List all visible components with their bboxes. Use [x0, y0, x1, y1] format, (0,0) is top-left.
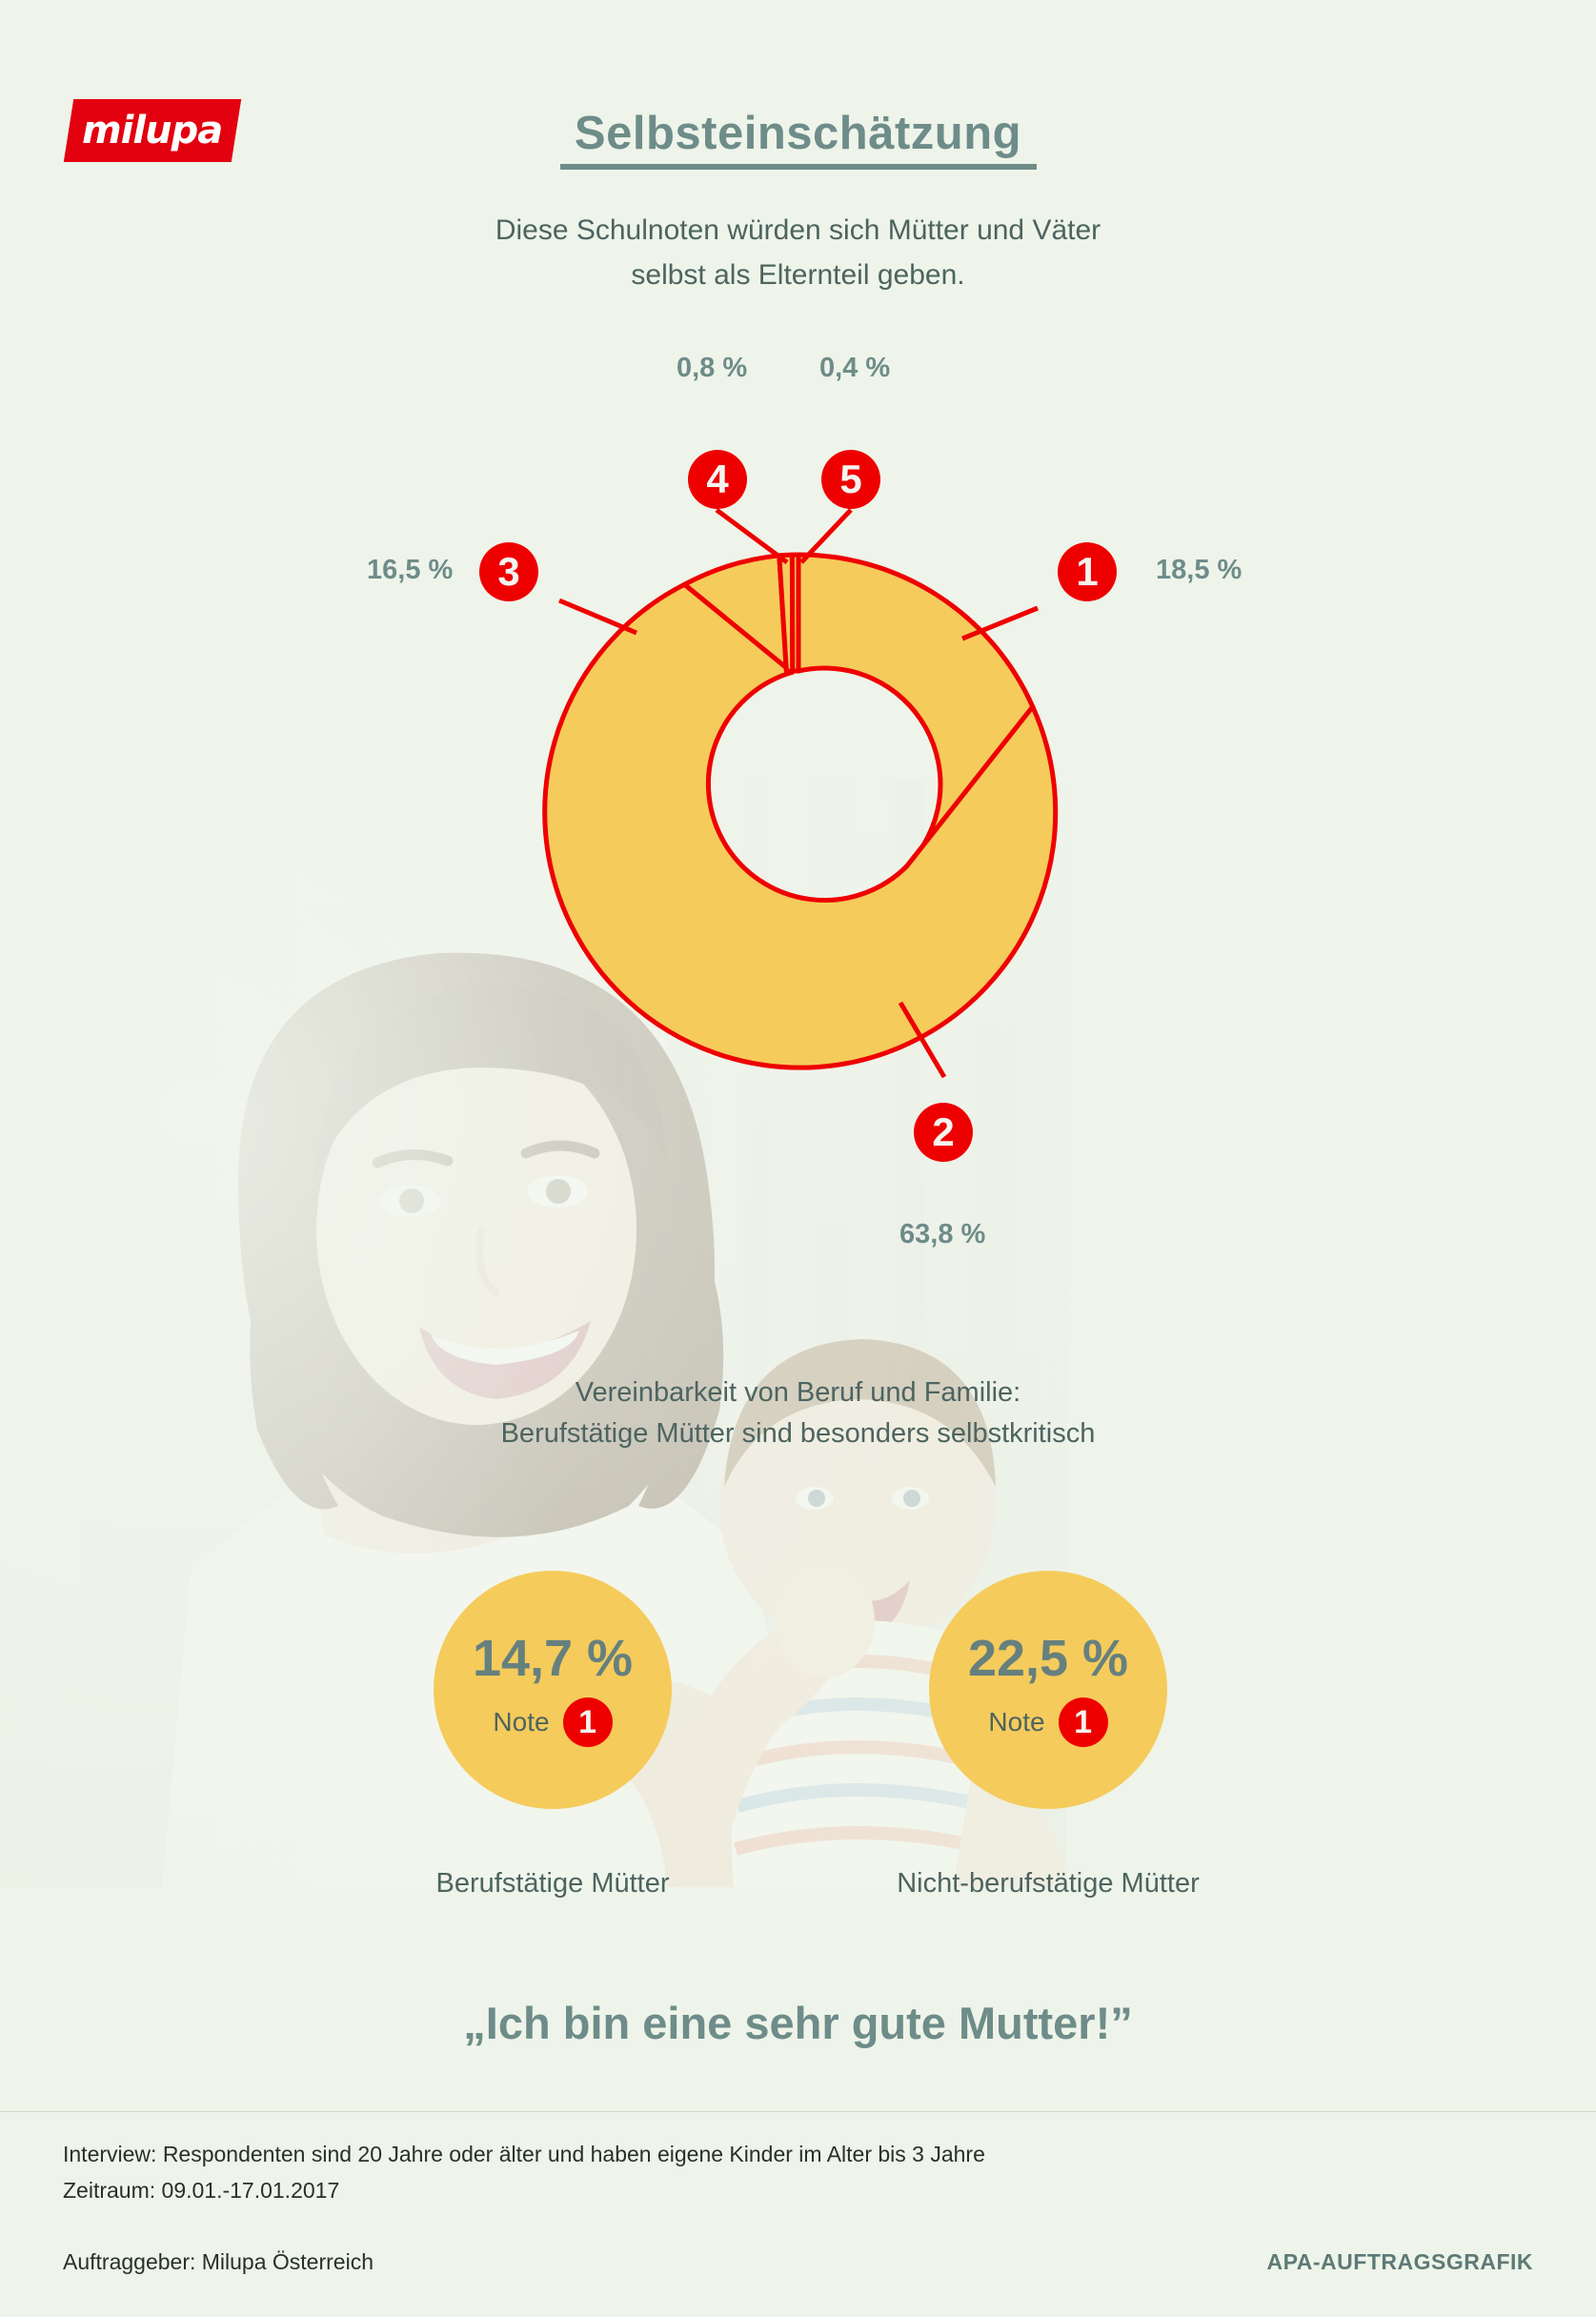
subtitle-line-2: selbst als Elternteil geben. — [0, 253, 1596, 297]
percent-label-1: 18,5 % — [1156, 555, 1242, 586]
stat-value: 14,7 % — [473, 1633, 633, 1684]
footer-agency: APA-AUFTRAGSGRAFIK — [1267, 2249, 1533, 2275]
subtitle-line-1: Diese Schulnoten würden sich Mütter und … — [0, 208, 1596, 253]
middle-caption-line-1: Vereinbarkeit von Beruf und Familie: — [0, 1372, 1596, 1413]
percent-label-5: 0,4 % — [819, 353, 890, 384]
middle-caption-line-2: Berufstätige Mütter sind besonders selbs… — [0, 1413, 1596, 1454]
stat-bubble-working-mothers: 14,7 % Note 1 — [434, 1571, 672, 1809]
percent-label-2: 63,8 % — [899, 1219, 985, 1250]
page-title: Selbsteinschätzung — [0, 107, 1596, 160]
percent-label-3: 16,5 % — [367, 555, 453, 586]
callout-marker-2[interactable]: 2 — [914, 1103, 973, 1162]
callout-marker-4[interactable]: 4 — [688, 450, 747, 509]
percent-label-4: 0,8 % — [677, 353, 747, 384]
leader-line-4 — [717, 510, 787, 562]
stat-caption-working-mothers: Berufstätige Mütter — [314, 1868, 791, 1900]
page-subtitle: Diese Schulnoten würden sich Mütter und … — [0, 208, 1596, 297]
pull-quote: „Ich bin eine sehr gute Mutter!” — [0, 1997, 1596, 2049]
callout-marker-5[interactable]: 5 — [821, 450, 880, 509]
donut-chart: 0,8 % 0,4 % 16,5 % 18,5 % 63,8 % 4 5 3 1… — [0, 362, 1596, 1258]
callout-marker-3[interactable]: 3 — [479, 542, 538, 601]
stat-note-grade-badge: 1 — [1059, 1697, 1108, 1747]
stat-note-row: Note 1 — [988, 1697, 1107, 1747]
callout-marker-1[interactable]: 1 — [1058, 542, 1117, 601]
stat-note-label: Note — [988, 1707, 1044, 1738]
stat-note-grade-badge: 1 — [563, 1697, 613, 1747]
footer-client: Auftraggeber: Milupa Österreich — [63, 2249, 374, 2275]
stat-note-label: Note — [493, 1707, 549, 1738]
footer-divider — [0, 2111, 1596, 2112]
title-underline — [560, 164, 1037, 170]
footer-method-line: Interview: Respondenten sind 20 Jahre od… — [63, 2142, 985, 2167]
stat-bubble-non-working-mothers: 22,5 % Note 1 — [929, 1571, 1167, 1809]
donut-slice-5 — [792, 555, 798, 671]
footer-period-line: Zeitraum: 09.01.-17.01.2017 — [63, 2178, 339, 2204]
stat-caption-non-working-mothers: Nicht-berufstätige Mütter — [810, 1868, 1286, 1900]
middle-caption: Vereinbarkeit von Beruf und Familie: Ber… — [0, 1372, 1596, 1454]
leader-line-3 — [559, 600, 636, 633]
stat-note-row: Note 1 — [493, 1697, 612, 1747]
stat-value: 22,5 % — [968, 1633, 1128, 1684]
